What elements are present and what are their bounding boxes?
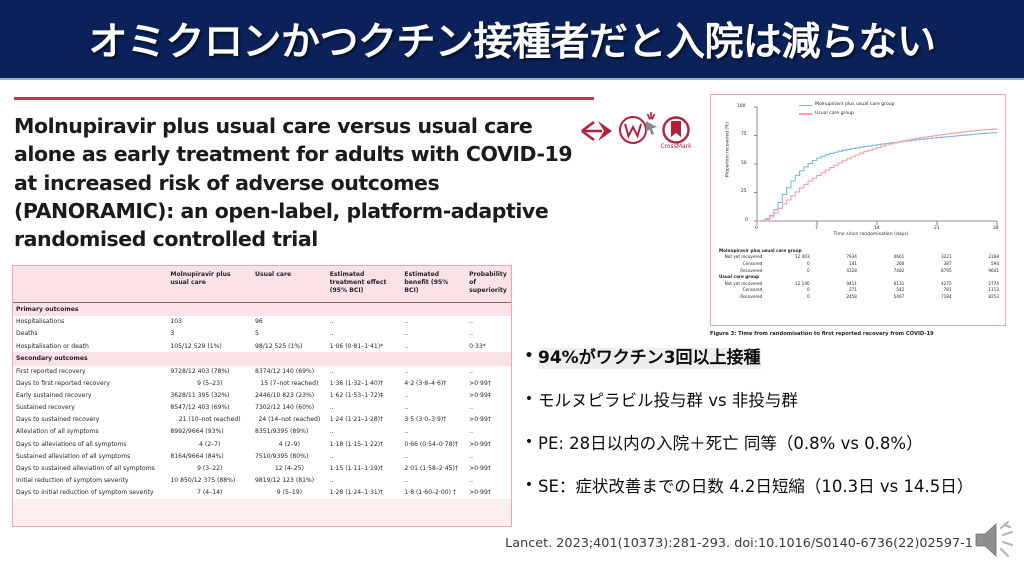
risk-row-label: Recovered [717,267,764,274]
cell-value: 9 (5–19) [252,487,327,499]
cell-value: .. [327,474,402,486]
risk-value: 2458 [812,293,859,300]
table-row: Sustained recovery 8547/12 403 (69%) 730… [13,402,511,414]
cell-value: 3628/11 395 (32%) [167,390,252,402]
cell-value: 4 (2–7) [167,438,252,450]
y-tick-label: 0 [745,218,748,223]
x-tick-label: 28 [993,226,999,231]
table-row: Early sustained recovery 3628/11 395 (32… [13,390,511,402]
risk-value: 6131 [859,280,906,287]
cell-value: 4·2 (3·8–4·6)† [401,378,466,390]
risk-value: 5467 [859,293,906,300]
risk-value: 7934 [812,254,859,261]
risk-value: 781 [906,287,953,294]
risk-value: 271 [812,287,859,294]
col-header-usual-care: Usual care [252,266,327,302]
bullet-list: • 94%がワクチン3回以上接種 • モルヌピラビル投与群 vs 非投与群 • … [520,348,1020,519]
table-row: Alleviation of all symptoms 8992/9664 (9… [13,426,511,438]
cell-value: 7510/9395 (80%) [252,450,327,462]
risk-value: 8795 [906,267,953,274]
cell-value: 7 (4–14) [167,487,252,499]
col-header-molnupiravir: Molnupiravir plus usual care [167,266,252,302]
cell-value: 12 (4–25) [252,462,327,474]
col-header-benefit: Estimated benefit (95% BCI) [401,266,466,302]
cell-value: 7302/12 140 (60%) [252,402,327,414]
x-tick-label: 14 [874,226,880,231]
cell-value: 10 850/12 375 (88%) [167,474,252,486]
risk-value: 4661 [859,254,906,261]
cell-value: 8164/9664 (84%) [167,450,252,462]
cell-value: 9819/12 123 (81%) [252,474,327,486]
cell-outcome: Days to first reported recovery [13,378,167,390]
cell-value: 96 [252,316,327,328]
table-row: First reported recovery 9728/12 403 (78%… [13,366,511,378]
y-tick-label: 50 [741,161,747,166]
table-row: Days to sustained recovery 21 (10–not re… [13,414,511,426]
cell-value: 8351/9395 (89%) [252,426,327,438]
risk-value: 2774 [954,280,1001,287]
risk-value: 542 [859,287,906,294]
table-row: Days to sustained alleviation of all sym… [13,462,511,474]
paper-title: Molnupiravir plus usual care versus usua… [14,112,580,253]
legend-swatch-molnupiravir [799,105,812,106]
cell-value: .. [466,450,511,462]
risk-group-header: Usual care group [717,274,1001,281]
cell-outcome: Sustained recovery [13,402,167,414]
risk-value: 141 [812,260,859,267]
risk-group-name-usual-care: Usual care group [717,274,859,281]
risk-value: 387 [906,260,953,267]
risk-value: 0 [764,267,811,274]
risk-row: Not yet recovered 12 140 9411 6131 4275 … [717,280,1001,287]
cell-value: 1·06 (0·81–1·41)* [327,340,402,352]
cell-value: 3 [167,328,252,340]
risk-group-header: Molnupiravir plus usual care group [717,247,1001,254]
table-header-row: Molnupiravir plus usual care Usual care … [13,266,511,302]
table-section-header: Primary outcomes [13,302,511,316]
cell-outcome: Early sustained recovery [13,390,167,402]
cell-outcome: Days to initial reduction of symptom sev… [13,487,167,499]
table-row: Days to initial reduction of symptom sev… [13,487,511,499]
cell-value: >0·99† [466,438,511,450]
cell-outcome: Initial reduction of symptom severity [13,474,167,486]
risk-row-label: Not yet recovered [717,280,764,287]
cell-value: .. [401,366,466,378]
cell-value: 1·36 (1·32–1·40)† [327,378,402,390]
table-row: Sustained alleviation of all symptoms 81… [13,450,511,462]
cell-value: 24 (14–not reached) [252,414,327,426]
risk-row: Censored 0 141 260 387 594 [717,260,1001,267]
bullet-text: SE：症状改善までの日数 4.2日短縮（10.3日 vs 14.5日） [538,477,973,498]
y-axis-label: Proportion recovered (%) [726,115,731,185]
cell-value: .. [466,366,511,378]
cell-value: .. [327,426,402,438]
cell-value: 1·8 (1·60–2·00) † [401,487,466,499]
table-row: Hospitalisation or death 105/12 529 (1%)… [13,340,511,352]
bullet-item-2: • モルヌピラビル投与群 vs 非投与群 [520,391,1020,412]
bullet-item-4: • SE：症状改善までの日数 4.2日短縮（10.3日 vs 14.5日） [520,477,1020,498]
risk-row: Censored 0 271 542 781 1113 [717,287,1001,294]
outcomes-table-panel: Molnupiravir plus usual care Usual care … [12,265,512,527]
cell-value: >0·99† [466,487,511,499]
bullet-item-1: • 94%がワクチン3回以上接種 [520,348,1020,369]
accent-divider [14,97,594,100]
outcomes-table: Molnupiravir plus usual care Usual care … [13,266,511,499]
risk-value: 594 [954,260,1001,267]
table-row: Days to alleviations of all symptoms 4 (… [13,438,511,450]
risk-value: 7482 [859,267,906,274]
x-tick-label: 7 [815,226,818,231]
risk-value: 4328 [812,267,859,274]
cell-value: 103 [167,316,252,328]
cell-value: 0·66 (0·54–0·78)† [401,438,466,450]
cell-value: .. [466,474,511,486]
bullet-text: PE: 28日以内の入院＋死亡 同等（0.8% vs 0.8%） [538,434,923,455]
cell-outcome: Sustained alleviation of all symptoms [13,450,167,462]
cell-value: 105/12 529 (1%) [167,340,252,352]
risk-row: Recovered 0 4328 7482 8795 9641 [717,267,1001,274]
cell-outcome: Days to sustained alleviation of all sym… [13,462,167,474]
cell-value: >0·99† [466,378,511,390]
cell-value: >0·99‡ [466,390,511,402]
risk-value: 0 [764,287,811,294]
cell-value: 8547/12 403 (69%) [167,402,252,414]
y-tick-label: 75 [741,132,747,137]
cell-value: 98/12 525 (1%) [252,340,327,352]
cell-value: 2·01 (1·58–2·45)† [401,462,466,474]
col-header-outcome [13,266,167,302]
cell-value: .. [401,328,466,340]
risk-value: 7184 [906,293,953,300]
x-axis-label: Time since randomisation (days) [771,232,971,237]
bullet-marker-icon: • [520,348,538,366]
slide-canvas: オミクロンかつクチン接種者だと入院は減らない Molnupiravir plus… [0,0,1024,576]
cell-value: 0·33* [466,340,511,352]
cell-value: 1·15 (1·11–1·19)† [327,462,402,474]
risk-row-label: Censored [717,260,764,267]
bullet-marker-icon: • [520,391,538,409]
cell-value: .. [401,316,466,328]
legend-label: Molnupiravir plus usual care group [815,101,895,110]
legend-swatch-usual-care [799,113,812,114]
cell-value: .. [401,450,466,462]
col-header-probability: Probability of superiority [466,266,511,302]
risk-value: 0 [764,293,811,300]
cell-value: 15 (7–not reached) [252,378,327,390]
risk-row: Recovered 0 2458 5467 7184 8253 [717,293,1001,300]
crossmark-icon: CrossMark [660,115,692,151]
cell-value: .. [466,402,511,414]
cell-value: 3·5 (3·0–3·9)† [401,414,466,426]
figure-caption: Figure 3: Time from randomisation to fir… [710,331,1010,337]
risk-value: 9641 [954,267,1001,274]
cell-value: .. [327,402,402,414]
bullet-marker-icon: • [520,477,538,495]
risk-group-name-molnupiravir: Molnupiravir plus usual care group [717,247,859,254]
risk-value: 9411 [812,280,859,287]
risk-value: 8253 [954,293,1001,300]
legend-item: Molnupiravir plus usual care group [799,101,895,110]
cell-value: .. [327,366,402,378]
cell-value: 8992/9664 (93%) [167,426,252,438]
cell-outcome: Days to sustained recovery [13,414,167,426]
y-tick-label: 25 [741,189,747,194]
svg-text:CrossMark: CrossMark [660,143,692,150]
lancet-arrow-icon [580,118,614,144]
risk-row-label: Recovered [717,293,764,300]
table-row: Days to first reported recovery 9 (5–23)… [13,378,511,390]
numbers-at-risk-table: Molnupiravir plus usual care group Not y… [717,247,1001,300]
cell-value: .. [327,328,402,340]
risk-value: 12 403 [764,254,811,261]
table-row: Deaths 3 5 .. .. .. [13,328,511,340]
cell-outcome: Hospitalisation or death [13,340,167,352]
cell-outcome: Alleviation of all symptoms [13,426,167,438]
cell-value: 9728/12 403 (78%) [167,366,252,378]
cell-outcome: Days to alleviations of all symptoms [13,438,167,450]
bullet-text: モルヌピラビル投与群 vs 非投与群 [538,391,798,412]
cell-value: 21 (10–not reached) [167,414,252,426]
cell-value: 2446/10 823 (23%) [252,390,327,402]
bullet-marker-icon: • [520,434,538,452]
slide-title-bar: オミクロンかつクチン接種者だと入院は減らない [0,0,1024,80]
cell-outcome: Deaths [13,328,167,340]
cell-value: .. [401,474,466,486]
cell-value: 5 [252,328,327,340]
journal-logos: CrossMark [580,112,700,160]
risk-row-label: Censored [717,287,764,294]
table-section-header: Secondary outcomes [13,352,511,365]
speaker-volume-icon[interactable] [972,515,1020,565]
cell-value: 8374/12 140 (69%) [252,366,327,378]
cell-value: 9 (5–23) [167,378,252,390]
cell-outcome: First reported recovery [13,366,167,378]
risk-value: 1113 [954,287,1001,294]
x-tick-label: 0 [755,226,758,231]
legend-item: Usual care group [799,110,895,119]
risk-row: Not yet recovered 12 403 7934 4661 3221 … [717,254,1001,261]
table-body: Primary outcomes Hospitalisations 103 96… [13,302,511,498]
cell-outcome: Hospitalisations [13,316,167,328]
cell-value: 1·62 (1·53–1·72)‡ [327,390,402,402]
cursor-icon [642,112,660,136]
cell-value: .. [401,340,466,352]
x-tick-label: 21 [934,226,940,231]
cell-value: >0·99† [466,462,511,474]
slide-title: オミクロンかつクチン接種者だと入院は減らない [0,0,1024,78]
risk-value: 12 140 [764,280,811,287]
legend-label: Usual care group [815,110,854,119]
risk-row-label: Not yet recovered [717,254,764,261]
cell-value: .. [401,402,466,414]
cell-value: 9 (3–22) [167,462,252,474]
col-header-treatment-effect: Estimated treatment effect (95% BCI) [327,266,402,302]
risk-value: 260 [859,260,906,267]
cell-value: .. [401,390,466,402]
figure-panel: 100 75 50 25 0 0 7 14 21 28 Proportion r… [710,94,1006,326]
bullet-item-3: • PE: 28日以内の入院＋死亡 同等（0.8% vs 0.8%） [520,434,1020,455]
risk-value: 4275 [906,280,953,287]
cell-value: .. [466,328,511,340]
chart-legend: Molnupiravir plus usual care group Usual… [799,101,895,118]
risk-value: 3221 [906,254,953,261]
cell-value: .. [401,426,466,438]
bullet-text: 94%がワクチン3回以上接種 [538,348,761,369]
table-row: Hospitalisations 103 96 .. .. .. [13,316,511,328]
table-row: Initial reduction of symptom severity 10… [13,474,511,486]
section-label-primary: Primary outcomes [13,302,511,316]
cell-value: .. [466,316,511,328]
cell-value: 1·18 (1·15–1·22)† [327,438,402,450]
cell-value: .. [327,450,402,462]
cell-value: .. [327,316,402,328]
y-tick-label: 100 [737,104,745,109]
risk-value: 2168 [954,254,1001,261]
cell-value: 1·24 (1·21–1·28)† [327,414,402,426]
cell-value: 1·28 (1·24–1·31)† [327,487,402,499]
section-label-secondary: Secondary outcomes [13,352,511,365]
cell-value: >0·99† [466,414,511,426]
kaplan-meier-chart: 100 75 50 25 0 0 7 14 21 28 Proportion r… [711,95,1007,245]
cell-value: .. [466,426,511,438]
cell-value: 4 (2–9) [252,438,327,450]
citation-text: Lancet. 2023;401(10373):281-293. doi:10.… [504,536,974,551]
risk-value: 0 [764,260,811,267]
